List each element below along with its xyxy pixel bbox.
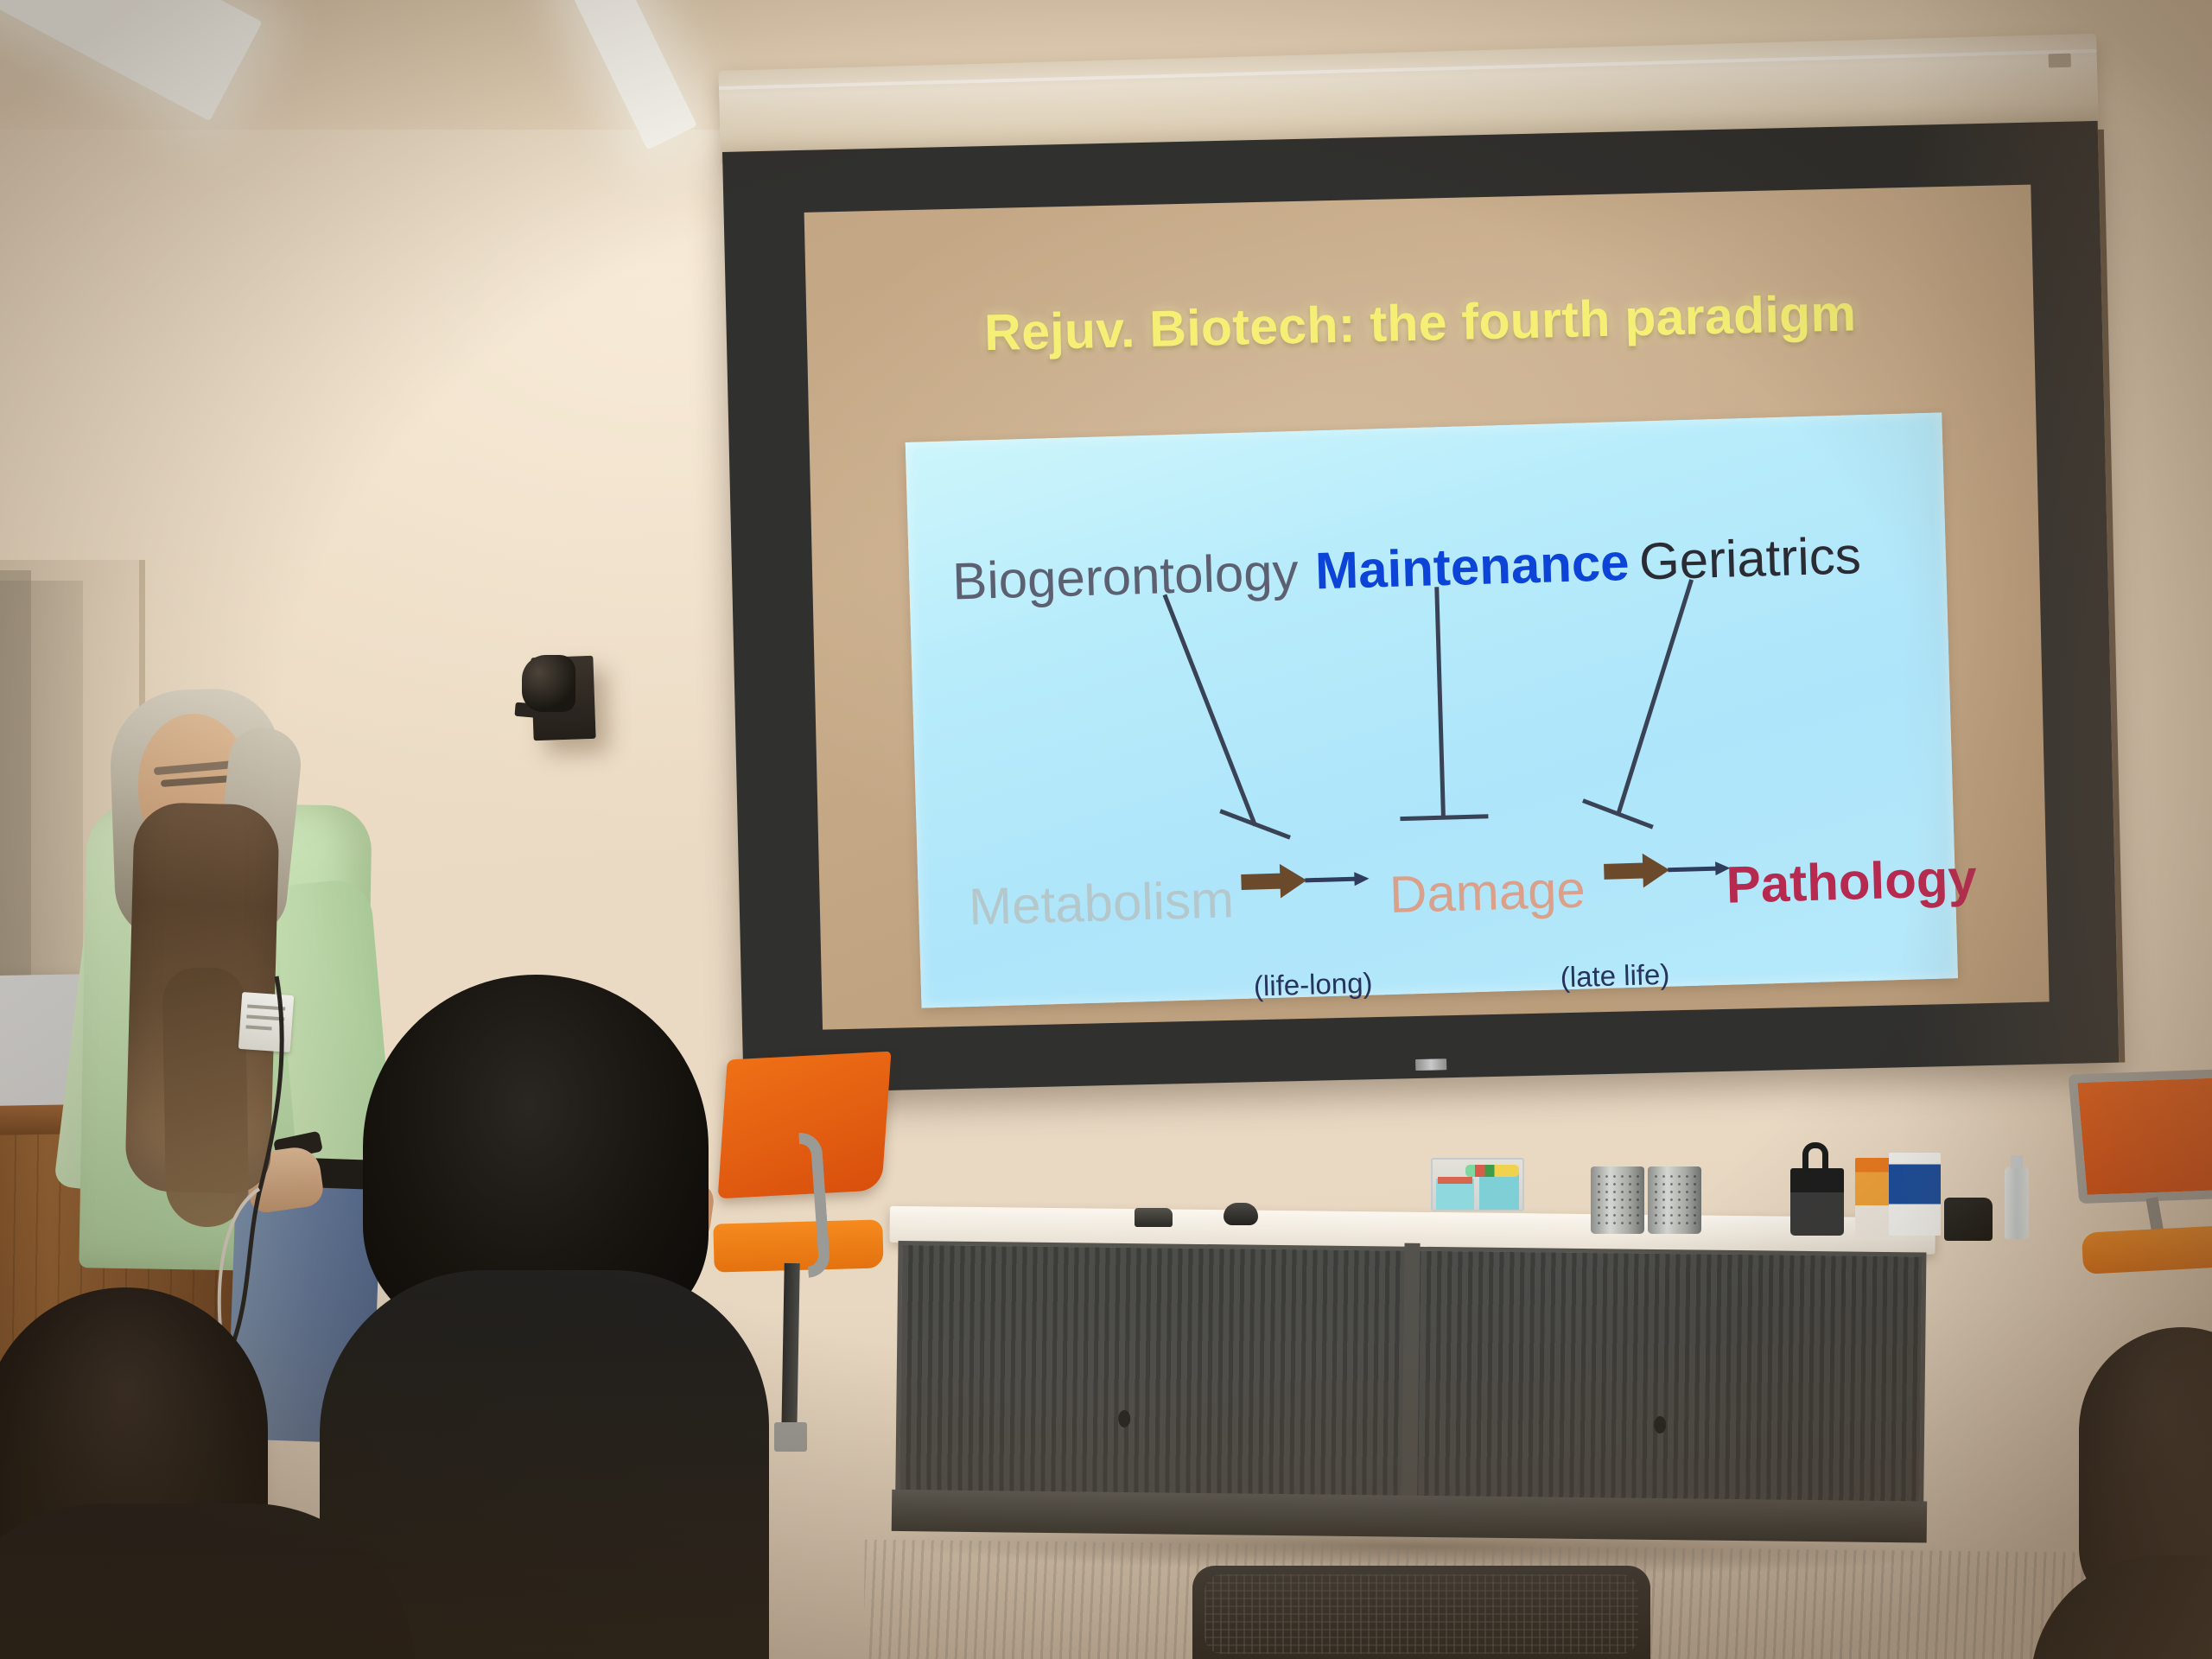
presentation-room-photo: Rejuv. Biotech: the fourth paradigm xyxy=(0,0,2212,1659)
wall-shadow-bottom xyxy=(0,1296,2212,1659)
